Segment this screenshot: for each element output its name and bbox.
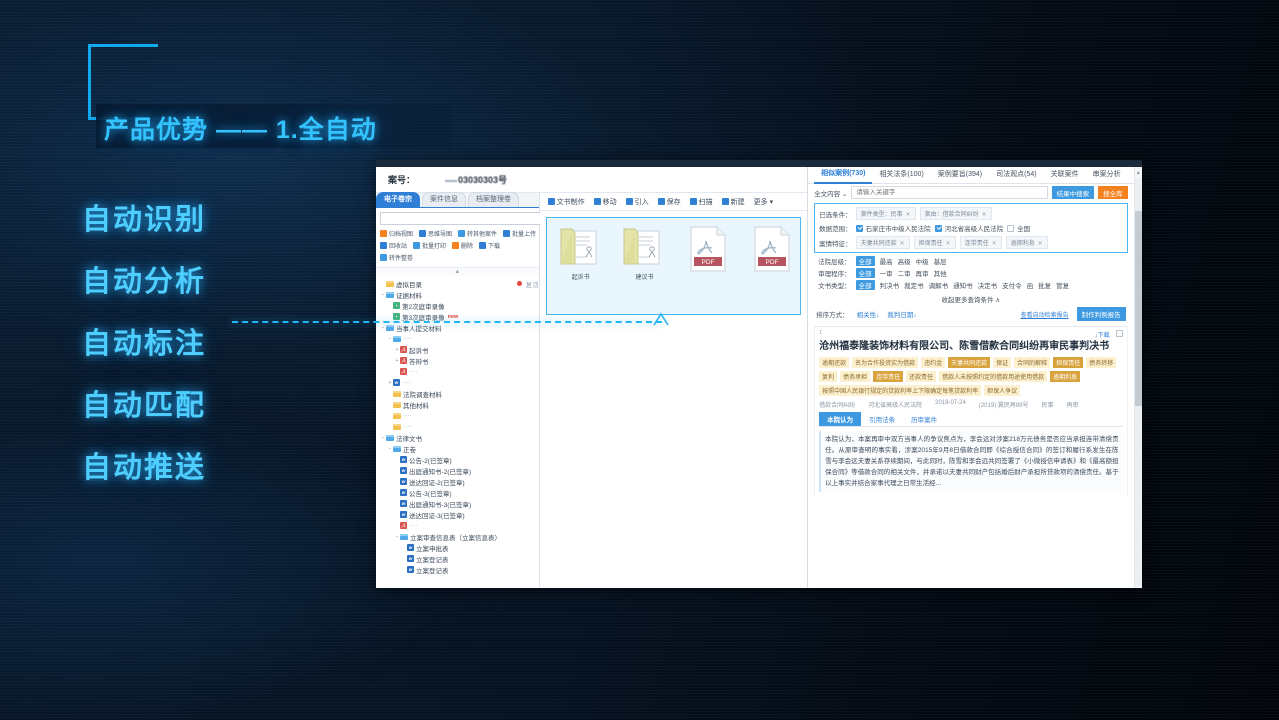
result-tag[interactable]: 名为合作投资实为借款: [852, 357, 918, 368]
tree-node[interactable]: −当事人提交材料: [380, 322, 539, 333]
feature-item-3: 自动标注: [82, 320, 206, 362]
move-icon: [594, 198, 601, 205]
page-title: 产品优势 —— 1.全自动: [104, 110, 504, 146]
tree-node-label: 立案登记表: [416, 565, 449, 575]
close-icon[interactable]: ✕: [982, 212, 987, 218]
result-meta-item: 民事: [1042, 400, 1054, 409]
result-meta-item: (2019) 冀民再89号: [979, 400, 1029, 409]
doc-type-option[interactable]: 裁定书: [904, 280, 924, 290]
recycle-bin-icon: [380, 242, 387, 249]
folder-icon: [393, 424, 401, 430]
sidebar-panel: 电子卷宗 案件信息 档案整理卷 检索 卷目 归档视图 思维导图 转其他案件: [376, 193, 540, 588]
tree-node-label: 法律文书: [396, 433, 422, 443]
tree-node[interactable]: −立案审查信息表（立案信息表）: [380, 531, 539, 542]
court-level-option[interactable]: 中级: [916, 256, 929, 266]
tree-node-label: 公告-2(已签章): [409, 455, 452, 465]
word-file-icon: w: [400, 456, 407, 463]
callout-caret-icon: [652, 312, 670, 326]
word-file-icon: w: [400, 467, 407, 474]
folder-document-icon: [622, 226, 666, 268]
checkbox-icon: [856, 225, 863, 232]
pdf-file-icon: 人: [400, 346, 407, 353]
court-level-options: 全部 最高 高级 中级 基层: [856, 256, 947, 266]
data-scope-checkbox[interactable]: 石家庄市中级人民法院: [856, 223, 931, 233]
procedure-option[interactable]: 一审: [880, 268, 893, 278]
tree-node[interactable]: ····: [380, 410, 539, 421]
file-name: 建议书: [635, 272, 653, 281]
data-scope-checkbox[interactable]: 全国: [1007, 223, 1030, 233]
result-tag[interactable]: 债务转移: [1086, 357, 1116, 368]
feature-item-2: 自动分析: [82, 258, 206, 300]
tree-node[interactable]: 虚拟目录复活: [380, 278, 539, 289]
word-file-icon: w: [400, 511, 407, 518]
tree-node-label: ····: [403, 412, 412, 419]
tree-node[interactable]: ▪第2次庭审录像: [380, 300, 539, 311]
result-meta-item: 借款合同纠纷: [819, 400, 855, 409]
tree-node-label: ····: [403, 335, 412, 342]
result-tag[interactable]: 合同的解释: [1014, 357, 1050, 368]
doc-type-label: 文书类型：: [818, 280, 851, 290]
center-toolbar: 文书制作 移动 引入 保存 扫描 新建 更多▾: [540, 193, 807, 211]
tab-related-statutes[interactable]: 相关法条(100): [872, 167, 930, 183]
tree-node[interactable]: w送达回证-2(已签章): [380, 476, 539, 487]
application-window: 案号： 03030303号 电子卷宗 案件信息 档案整理卷 检索 卷目: [376, 160, 1142, 588]
svg-text:PDF: PDF: [702, 259, 715, 266]
close-icon[interactable]: ✕: [992, 241, 997, 247]
sidebar-search-row: 检索 卷目: [376, 208, 539, 228]
sidebar-tabs: 电子卷宗 案件信息 档案整理卷: [376, 193, 539, 208]
printer-icon: [413, 242, 420, 249]
data-scope-checkbox[interactable]: 河北省高级人民法院: [935, 223, 1004, 233]
sort-by-relevance[interactable]: 相关性↓: [857, 309, 880, 319]
doc-type-option[interactable]: 决定书: [978, 280, 998, 290]
tool-download[interactable]: 下载: [479, 241, 500, 250]
chevron-down-icon: ⌄: [842, 191, 847, 198]
word-file-icon: w: [400, 489, 407, 496]
sidebar-search-input[interactable]: [380, 212, 559, 225]
document-icon: [548, 198, 555, 205]
scrollbar-track[interactable]: [1135, 178, 1142, 586]
tree-node-label: 出庭通知书-2(已签章): [409, 466, 471, 476]
tree-node[interactable]: w立案登记表: [380, 564, 539, 575]
tab-similar-cases[interactable]: 相似案例(730): [814, 166, 872, 184]
close-icon[interactable]: ✕: [946, 241, 951, 247]
data-scope-label: 数据范围：: [819, 223, 852, 233]
feature-chip[interactable]: 夫妻共同还款✕: [856, 236, 910, 249]
tree-node[interactable]: +w····: [380, 377, 539, 388]
tree-node[interactable]: −正卷: [380, 443, 539, 454]
sort-by-date[interactable]: 裁判日期↓: [887, 309, 916, 319]
sort-row: 排序方式： 相关性↓ 裁判日期↓ 查看自动检索报告 制作判例报告: [808, 306, 1133, 324]
court-level-row: 法院层级： 全部 最高 高级 中级 基层: [808, 255, 1133, 267]
feature-item-5: 自动推送: [82, 444, 206, 486]
tree-node-label: 立案登记表: [416, 554, 449, 564]
tree-node-label: 虚拟目录: [396, 279, 422, 289]
sidebar-toolbar-row-2: 回收站 批量打印 删除 下载: [380, 240, 535, 251]
result-tag[interactable]: 夫妻共同还款: [948, 357, 990, 368]
tree-node-label: 起诉书: [409, 345, 429, 355]
result-meta-item: 2019-07-24: [935, 400, 966, 409]
tree-node-label: 第2次庭审录像: [402, 301, 445, 311]
tree-node-status: 复活: [526, 279, 539, 289]
tree-node-label: ····: [402, 379, 411, 386]
result-detail-tabs: 本院认为 引用法条 历审案件: [819, 412, 1122, 427]
case-search-row: 全文内容 ⌄ 结果中搜索 搜全库: [808, 184, 1133, 201]
tree-node-label: 公告-3(已签章): [409, 488, 452, 498]
folder-open-icon: [393, 336, 401, 342]
tool-volume-organize[interactable]: 转件整卷: [380, 253, 413, 262]
mind-map-icon: [419, 230, 426, 237]
scrollbar-thumb[interactable]: [1135, 211, 1142, 407]
archive-view-icon: [380, 230, 387, 237]
procedure-row: 审理程序： 全部 一审 二审 再审 其他: [808, 267, 1133, 279]
video-file-icon: ▪: [393, 302, 400, 309]
tab-archive-volume[interactable]: 档案整理卷: [468, 192, 519, 207]
folder-icon: [393, 413, 401, 419]
tree-node[interactable]: 其他材料: [380, 399, 539, 410]
doc-type-row: 文书类型： 全部 判决书 裁定书 调解书 通知书 决定书 支付令 函 批复 管复: [808, 279, 1133, 291]
sidebar-toolbar-row-3: 转件整卷: [380, 252, 535, 263]
word-file-icon: w: [407, 566, 414, 573]
transfer-case-icon: [458, 230, 465, 237]
feature-chip[interactable]: 担保责任✕: [914, 236, 956, 249]
tool-new[interactable]: 新建: [722, 197, 745, 207]
search-in-results-button[interactable]: 结果中搜索: [1052, 186, 1095, 199]
case-features-label: 案情特征：: [819, 238, 852, 248]
video-file-icon: ▪: [393, 313, 400, 320]
case-number-value: 03030303号: [445, 173, 507, 186]
filter-box: 已选条件： 案件类型：民事✕ 案由：借款合同纠纷✕ 数据范围： 石家庄市中级人民…: [814, 203, 1127, 253]
tool-save[interactable]: 保存: [658, 197, 681, 207]
file-item[interactable]: PDF: [684, 226, 732, 276]
close-icon[interactable]: ✕: [906, 212, 911, 218]
result-tag[interactable]: 借款人未按照约定的借款用途使用借款: [939, 371, 1047, 382]
file-name: 起诉书: [572, 272, 590, 281]
tab-case-info[interactable]: 案件信息: [422, 192, 466, 207]
volume-organize-icon: [380, 254, 387, 261]
feature-item-1: 自动识别: [82, 196, 206, 238]
result-tag[interactable]: 保证: [993, 357, 1011, 368]
sidebar-toolbar: 归档视图 思维导图 转其他案件 批量上传 回收站 批量打印 删除 下载: [376, 228, 539, 267]
result-tag[interactable]: 担保人争议: [984, 385, 1020, 396]
tree-node[interactable]: w公告-3(已签章): [380, 487, 539, 498]
result-index: 1: [819, 330, 822, 336]
tree-node[interactable]: −····: [380, 333, 539, 344]
case-number-header: 案号： 03030303号: [376, 167, 807, 193]
procedure-option[interactable]: 全部: [856, 268, 875, 278]
tool-more[interactable]: 更多▾: [754, 197, 774, 207]
file-item[interactable]: PDF: [748, 226, 796, 276]
tree-node[interactable]: −证据材料: [380, 289, 539, 300]
doc-type-option[interactable]: 调解书: [929, 280, 949, 290]
tree-node-label: 第3次庭审录像: [402, 312, 445, 322]
tab-court-opinion[interactable]: 本院认为: [819, 412, 861, 426]
tree-node-label: 正卷: [403, 444, 416, 454]
procedure-options: 全部 一审 二审 再审 其他: [856, 268, 947, 278]
result-tag[interactable]: 还款责任: [906, 371, 936, 382]
tree-node[interactable]: −法律文书: [380, 432, 539, 443]
tool-scan[interactable]: 扫描: [690, 197, 713, 207]
window-titlebar: [376, 160, 1142, 167]
word-file-icon: w: [400, 500, 407, 507]
sort-label: 排序方式：: [816, 309, 849, 319]
result-tag[interactable]: 复利: [819, 371, 837, 382]
word-file-icon: w: [407, 555, 414, 562]
search-result-item: 1 ↓下载 沧州福泰隆装饰材料有限公司、陈雪借款合同纠纷再审民事判决书 逾期还款…: [814, 326, 1127, 496]
result-tag[interactable]: 担保责任: [1053, 357, 1083, 368]
tree-node[interactable]: 人····: [380, 366, 539, 377]
doc-type-option[interactable]: 支付令: [1002, 280, 1022, 290]
tree-node-label: 送达回证-3(已签章): [409, 510, 465, 520]
pdf-file-icon: PDF: [752, 226, 792, 272]
court-level-option[interactable]: 高级: [898, 256, 911, 266]
tool-recycle-bin[interactable]: 回收站: [380, 241, 407, 250]
condition-chip[interactable]: 案由：借款合同纠纷✕: [920, 207, 992, 220]
data-scope-row: 数据范围： 石家庄市中级人民法院 河北省高级人民法院 全国: [819, 222, 1122, 234]
sidebar-collapse-handle[interactable]: ▲: [376, 267, 539, 276]
case-number-label: 案号：: [388, 173, 415, 186]
download-link[interactable]: ↓下载: [1095, 330, 1110, 339]
tab-electronic-dossier[interactable]: 电子卷宗: [376, 192, 420, 207]
tree-node[interactable]: +人答辩书: [380, 355, 539, 366]
tree-node-label: ····: [409, 368, 418, 375]
court-level-option[interactable]: 最高: [880, 256, 893, 266]
status-dot-icon: [517, 281, 522, 286]
folder-open-icon: [393, 446, 401, 452]
tool-archive-view[interactable]: 归档视图: [380, 229, 413, 238]
tree-node-label: ····: [409, 522, 418, 529]
sidebar-toolbar-row-1: 归档视图 思维导图 转其他案件 批量上传: [380, 228, 535, 239]
tool-batch-upload[interactable]: 批量上传: [503, 229, 536, 238]
file-item[interactable]: 建议书: [621, 226, 669, 281]
tree-node-label: 当事人提交材料: [396, 323, 442, 333]
result-meta: 借款合同纠纷河北省高级人民法院2019-07-24(2019) 冀民再89号民事…: [819, 400, 1122, 409]
tree-node-label: 答辩书: [409, 356, 429, 366]
case-features-row: 案情特征： 夫妻共同还款✕ 担保责任✕ 连带责任✕ 逾期利息✕: [819, 236, 1122, 249]
word-file-icon: w: [400, 478, 407, 485]
tree-node[interactable]: ····: [380, 421, 539, 432]
similar-cases-tabs: 相似案例(730) 相关法条(100) 案例要旨(394) 司法观点(54) 关…: [808, 167, 1133, 184]
checkbox-icon: [935, 225, 942, 232]
word-file-icon: w: [407, 544, 414, 551]
folder-open-icon: [386, 435, 394, 441]
pdf-file-icon: 人: [400, 368, 407, 375]
search-scope-select[interactable]: 全文内容 ⌄: [814, 188, 847, 198]
doc-type-option[interactable]: 批复: [1038, 280, 1051, 290]
folder-icon: [393, 391, 401, 397]
tree-node-label: 法院调查材料: [403, 389, 442, 399]
pdf-file-icon: 人: [400, 522, 407, 529]
close-icon[interactable]: ✕: [1038, 241, 1043, 247]
similar-cases-panel: 相似案例(730) 相关法条(100) 案例要旨(394) 司法观点(54) 关…: [808, 167, 1133, 588]
feature-list: 自动识别 自动分析 自动标注 自动匹配 自动推送: [82, 196, 206, 506]
folder-open-icon: [386, 292, 394, 298]
scan-icon: [690, 198, 697, 205]
tree-node-label: 送达回证-2(已签章): [409, 477, 465, 487]
procedure-option[interactable]: 其他: [934, 268, 947, 278]
tab-case-history[interactable]: 历审案件: [903, 412, 945, 426]
result-select-checkbox[interactable]: [1116, 330, 1123, 337]
tree-node[interactable]: w送达回证-3(已签章): [380, 509, 539, 520]
scroll-up-icon[interactable]: ▴: [1137, 169, 1140, 176]
folder-icon: [393, 402, 401, 408]
result-tag[interactable]: 逾期利息: [1050, 371, 1080, 382]
checkbox-icon: [1007, 225, 1014, 232]
procedure-option[interactable]: 再审: [916, 268, 929, 278]
doc-type-option[interactable]: 函: [1027, 280, 1034, 290]
tool-mind-map[interactable]: 思维导图: [419, 229, 452, 238]
tree-node-label: 立案审查信息表（立案信息表）: [410, 532, 501, 542]
result-header: 1 ↓下载: [819, 330, 1122, 339]
tab-serial-case-analysis[interactable]: 串案分析: [1086, 167, 1128, 183]
batch-upload-icon: [503, 230, 510, 237]
court-level-option[interactable]: 全部: [856, 256, 875, 266]
window-scrollbar[interactable]: ▴: [1134, 167, 1142, 588]
folder-document-icon: [559, 226, 603, 268]
result-tag[interactable]: 连带责任: [873, 371, 903, 382]
tab-case-gist[interactable]: 案例要旨(394): [931, 167, 989, 183]
court-level-option[interactable]: 基层: [934, 256, 947, 266]
pdf-file-icon: PDF: [688, 226, 728, 272]
doc-type-option[interactable]: 全部: [856, 280, 875, 290]
import-icon: [626, 198, 633, 205]
tab-judicial-views[interactable]: 司法观点(54): [989, 167, 1043, 183]
word-file-icon: w: [393, 379, 400, 386]
tab-cited-statutes[interactable]: 引用法条: [861, 412, 903, 426]
feature-chip[interactable]: 连带责任✕: [960, 236, 1002, 249]
tree-node[interactable]: w出庭通知书-2(已签章): [380, 465, 539, 476]
auto-search-report-link[interactable]: 查看自动检索报告: [1021, 310, 1069, 319]
result-meta-item: 河北省高级人民法院: [868, 400, 922, 409]
callout-dashed-line: [232, 321, 662, 323]
result-body-text: 本院认为，本案再审中双方当事人的争议焦点为，李会远对涉案218万元债务是否应当承…: [819, 431, 1122, 492]
tree-node-label: 其他材料: [403, 400, 429, 410]
tree-node[interactable]: w立案申批表: [380, 542, 539, 553]
tool-delete[interactable]: 删除: [452, 241, 473, 250]
make-report-button[interactable]: 制作判例报告: [1077, 307, 1126, 321]
feature-chip[interactable]: 逾期利息✕: [1006, 236, 1048, 249]
tree-node[interactable]: 人····: [380, 520, 539, 531]
folder-icon: [386, 281, 394, 287]
tool-batch-print[interactable]: 批量打印: [413, 241, 446, 250]
doc-type-option[interactable]: 管复: [1056, 280, 1069, 290]
tree-node-label: ····: [403, 423, 412, 430]
keyword-input[interactable]: [851, 186, 1047, 199]
doc-type-options: 全部 判决书 裁定书 调解书 通知书 决定书 支付令 函 批复 管复: [856, 280, 1070, 290]
result-tag[interactable]: 逾期还款: [819, 357, 849, 368]
procedure-option[interactable]: 二审: [898, 268, 911, 278]
procedure-label: 审理程序：: [818, 268, 851, 278]
tab-related-cases[interactable]: 关联案件: [1044, 167, 1086, 183]
result-tag[interactable]: 债务承担: [840, 371, 870, 382]
tool-document-production[interactable]: 文书制作: [548, 197, 585, 207]
tool-import[interactable]: 引入: [626, 197, 649, 207]
tree-node[interactable]: +人起诉书: [380, 344, 539, 355]
result-tag[interactable]: 按照中国人民银行规定的贷款利率上下限确定每笔贷款利率: [819, 385, 981, 396]
tree-node[interactable]: 法院调查材料: [380, 388, 539, 399]
feature-item-4: 自动匹配: [82, 382, 206, 424]
file-grid: 起诉书: [546, 217, 801, 315]
tree-node[interactable]: w立案登记表: [380, 553, 539, 564]
download-icon: [479, 242, 486, 249]
result-tag[interactable]: 违约金: [921, 357, 945, 368]
new-badge: new: [448, 314, 459, 320]
plus-square-icon: [722, 198, 729, 205]
tree-node[interactable]: w出庭通知书-3(已签章): [380, 498, 539, 509]
court-level-label: 法院层级：: [818, 256, 851, 266]
selected-conditions-row: 已选条件： 案件类型：民事✕ 案由：借款合同纠纷✕: [819, 207, 1122, 220]
trash-icon: [452, 242, 459, 249]
folder-open-icon: [386, 325, 394, 331]
pdf-file-icon: 人: [400, 357, 407, 364]
result-title[interactable]: 沧州福泰隆装饰材料有限公司、陈雪借款合同纠纷再审民事判决书: [819, 340, 1122, 353]
tree-node[interactable]: w公告-2(已签章): [380, 454, 539, 465]
tree-node-label: 出庭通知书-3(已签章): [409, 499, 471, 509]
tool-move[interactable]: 移动: [594, 197, 617, 207]
collapse-filters-button[interactable]: 收起更多查询条件 ∧: [808, 291, 1133, 306]
folder-open-icon: [400, 534, 408, 540]
tree-node-label: 证据材料: [396, 290, 422, 300]
file-item[interactable]: 起诉书: [557, 226, 605, 281]
condition-chip[interactable]: 案件类型：民事✕: [856, 207, 916, 220]
chevron-down-icon: ▾: [770, 198, 774, 206]
result-tags: 逾期还款名为合作投资实为借款违约金夫妻共同还款保证合同的解释担保责任债务转移复利…: [819, 357, 1122, 396]
result-meta-item: 再审: [1067, 400, 1079, 409]
svg-text:PDF: PDF: [766, 259, 779, 266]
center-panel: 文书制作 移动 引入 保存 扫描 新建 更多▾: [540, 193, 807, 588]
search-all-button[interactable]: 搜全库: [1098, 186, 1128, 199]
doc-type-option[interactable]: 通知书: [953, 280, 973, 290]
selected-conditions-label: 已选条件：: [819, 209, 852, 219]
tree-node-label: 立案申批表: [416, 543, 449, 553]
tool-transfer-case[interactable]: 转其他案件: [458, 229, 497, 238]
save-icon: [658, 198, 665, 205]
doc-type-option[interactable]: 判决书: [880, 280, 900, 290]
close-icon[interactable]: ✕: [900, 241, 905, 247]
